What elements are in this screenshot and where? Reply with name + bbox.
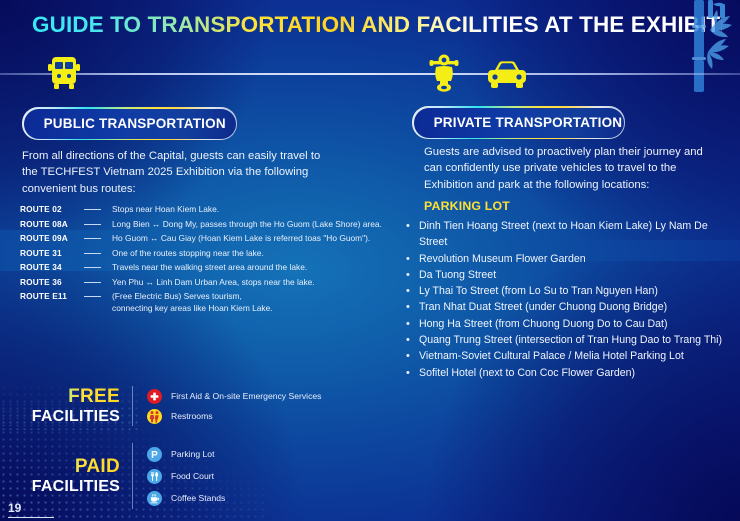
bus-route-row: ROUTE 02Stops near Hoan Kiem Lake. xyxy=(20,203,400,215)
bus-route-description-line: Travels near the walking street area aro… xyxy=(112,261,400,273)
bus-route-number: ROUTE E11 xyxy=(20,290,78,302)
free-facilities-line1: FREE xyxy=(18,386,120,407)
parking-lot-item: •Ly Thai To Street (from Lo Su to Tran N… xyxy=(406,283,736,299)
bus-route-number: ROUTE 36 xyxy=(20,276,78,288)
bullet-icon: • xyxy=(406,283,419,299)
parking-lot-label: Ly Thai To Street (from Lo Su to Tran Ng… xyxy=(419,283,658,299)
bus-route-dash xyxy=(78,290,112,302)
bus-route-dash xyxy=(78,218,112,230)
bus-route-dash xyxy=(78,247,112,259)
public-transportation-intro: From all directions of the Capital, gues… xyxy=(22,148,322,197)
facility-item: Coffee Stands xyxy=(147,488,225,508)
bus-route-description: (Free Electric Bus) Serves tourism,conne… xyxy=(112,290,400,315)
bullet-icon: • xyxy=(406,267,419,283)
facility-item: Food Court xyxy=(147,466,225,486)
bus-route-description: Yen Phu ↔ Linh Dam Urban Area, stops nea… xyxy=(112,276,400,288)
parking-lot-item: •Vietnam-Soviet Cultural Palace / Melia … xyxy=(406,348,736,364)
parking-lot-item: •Dinh Tien Hoang Street (next to Hoan Ki… xyxy=(406,218,736,251)
section-header-private-transportation: PRIVATE TRANSPORTATION xyxy=(412,106,625,139)
facility-label: Parking Lot xyxy=(171,448,214,460)
parking-lot-item: •Revolution Museum Flower Garden xyxy=(406,251,736,267)
paid-facilities-line2: FACILITIES xyxy=(18,477,120,496)
bus-route-description: Travels near the walking street area aro… xyxy=(112,261,400,273)
bullet-icon: • xyxy=(406,332,419,348)
restroom-icon xyxy=(147,409,162,424)
bus-route-number: ROUTE 02 xyxy=(20,203,78,215)
free-facilities-divider xyxy=(132,386,133,426)
bullet-icon: • xyxy=(406,348,419,364)
first-aid-icon xyxy=(147,389,162,404)
free-facilities-block: FREE FACILITIES First Aid & On-site Emer… xyxy=(18,386,321,426)
free-facilities-line2: FACILITIES xyxy=(18,407,120,426)
parking-lot-item: •Hong Ha Street (from Chuong Duong Do to… xyxy=(406,316,736,332)
bus-route-description: One of the routes stopping near the lake… xyxy=(112,247,400,259)
facility-item: Restrooms xyxy=(147,407,321,425)
parking-lot-item: •Tran Nhat Duat Street (under Chuong Duo… xyxy=(406,299,736,315)
parking-lot-label: Vietnam-Soviet Cultural Palace / Melia H… xyxy=(419,348,684,364)
parking-icon: P xyxy=(147,447,162,462)
header-divider xyxy=(0,73,740,75)
bus-route-description: Stops near Hoan Kiem Lake. xyxy=(112,203,400,215)
bus-route-row: ROUTE 08ALong Bien ↔ Dong My, passes thr… xyxy=(20,218,400,230)
bullet-icon: • xyxy=(406,316,419,332)
parking-lot-list: •Dinh Tien Hoang Street (next to Hoan Ki… xyxy=(406,218,736,381)
coffee-icon xyxy=(147,491,162,506)
scooter-icon xyxy=(427,54,461,92)
facility-item: First Aid & On-site Emergency Services xyxy=(147,387,321,405)
parking-lot-label: Hong Ha Street (from Chuong Duong Do to … xyxy=(419,316,668,332)
bullet-icon: • xyxy=(406,218,419,234)
bus-route-dash xyxy=(78,232,112,244)
parking-lot-item: •Sofitel Hotel (next to Con Coc Flower G… xyxy=(406,365,736,381)
bus-route-dash xyxy=(78,261,112,273)
page-title: GUIDE TO TRANSPORTATION AND FACILITIES A… xyxy=(32,12,722,38)
bullet-icon: • xyxy=(406,299,419,315)
svg-text:P: P xyxy=(151,450,158,461)
public-transportation-label: PUBLIC TRANSPORTATION xyxy=(24,109,236,139)
bullet-icon: • xyxy=(406,365,419,381)
parking-lot-item: •Quang Trung Street (intersection of Tra… xyxy=(406,332,736,348)
facility-item: P Parking Lot xyxy=(147,444,225,464)
free-facilities-items: First Aid & On-site Emergency Services R… xyxy=(147,386,321,426)
bus-route-dash xyxy=(78,276,112,288)
paid-facilities-label: PAID FACILITIES xyxy=(18,456,132,496)
section-header-public-transportation: PUBLIC TRANSPORTATION xyxy=(22,107,237,140)
private-transportation-label: PRIVATE TRANSPORTATION xyxy=(414,108,624,138)
bus-route-description-line: Ho Guom ↔ Cau Giay (Hoan Kiem Lake is re… xyxy=(112,232,400,244)
parking-lot-label: Sofitel Hotel (next to Con Coc Flower Ga… xyxy=(419,365,635,381)
food-court-icon xyxy=(147,469,162,484)
paid-facilities-divider xyxy=(132,443,133,509)
bus-routes-list: ROUTE 02Stops near Hoan Kiem Lake.ROUTE … xyxy=(20,203,400,317)
bus-route-description: Ho Guom ↔ Cau Giay (Hoan Kiem Lake is re… xyxy=(112,232,400,244)
bus-route-description-line: Yen Phu ↔ Linh Dam Urban Area, stops nea… xyxy=(112,276,400,288)
facility-label: Restrooms xyxy=(171,410,213,422)
bus-route-description: Long Bien ↔ Dong My, passes through the … xyxy=(112,218,400,230)
bus-route-row: ROUTE E11(Free Electric Bus) Serves tour… xyxy=(20,290,400,315)
parking-lot-item: •Da Tuong Street xyxy=(406,267,736,283)
bus-route-row: ROUTE 36Yen Phu ↔ Linh Dam Urban Area, s… xyxy=(20,276,400,288)
private-transportation-intro: Guests are advised to proactively plan t… xyxy=(424,144,724,193)
bullet-icon: • xyxy=(406,251,419,267)
infographic-page: GUIDE TO TRANSPORTATION AND FACILITIES A… xyxy=(0,0,740,521)
parking-lot-label: Dinh Tien Hoang Street (next to Hoan Kie… xyxy=(419,218,736,251)
parking-lot-heading: PARKING LOT xyxy=(424,199,510,213)
bus-route-description-line: One of the routes stopping near the lake… xyxy=(112,247,400,259)
parking-lot-label: Quang Trung Street (intersection of Tran… xyxy=(419,332,722,348)
parking-lot-label: Revolution Museum Flower Garden xyxy=(419,251,586,267)
bus-route-dash xyxy=(78,203,112,215)
bus-route-description-line: Stops near Hoan Kiem Lake. xyxy=(112,203,400,215)
paid-facilities-line1: PAID xyxy=(18,456,120,477)
bus-route-row: ROUTE 09AHo Guom ↔ Cau Giay (Hoan Kiem L… xyxy=(20,232,400,244)
bus-route-row: ROUTE 34Travels near the walking street … xyxy=(20,261,400,273)
bus-route-description-line: Long Bien ↔ Dong My, passes through the … xyxy=(112,218,400,230)
bamboo-decoration-icon xyxy=(660,0,740,92)
bus-route-number: ROUTE 09A xyxy=(20,232,78,244)
bus-icon xyxy=(44,56,84,90)
facility-label: First Aid & On-site Emergency Services xyxy=(171,390,321,402)
facility-label: Coffee Stands xyxy=(171,492,225,504)
free-facilities-label: FREE FACILITIES xyxy=(18,386,132,426)
page-number: 19 xyxy=(8,501,21,515)
car-icon xyxy=(486,60,528,90)
bus-route-number: ROUTE 31 xyxy=(20,247,78,259)
parking-lot-label: Da Tuong Street xyxy=(419,267,496,283)
bus-route-number: ROUTE 08A xyxy=(20,218,78,230)
bus-route-description-line: (Free Electric Bus) Serves tourism, xyxy=(112,290,400,302)
paid-facilities-items: P Parking Lot Food Court xyxy=(147,443,225,509)
bus-route-row: ROUTE 31One of the routes stopping near … xyxy=(20,247,400,259)
page-number-rule xyxy=(8,517,54,519)
parking-lot-label: Tran Nhat Duat Street (under Chuong Duon… xyxy=(419,299,667,315)
facility-label: Food Court xyxy=(171,470,214,482)
paid-facilities-block: PAID FACILITIES P Parking Lot Food Court xyxy=(18,443,225,509)
bus-route-number: ROUTE 34 xyxy=(20,261,78,273)
bus-route-description-line: connecting key areas like Hoan Kiem Lake… xyxy=(112,302,400,314)
